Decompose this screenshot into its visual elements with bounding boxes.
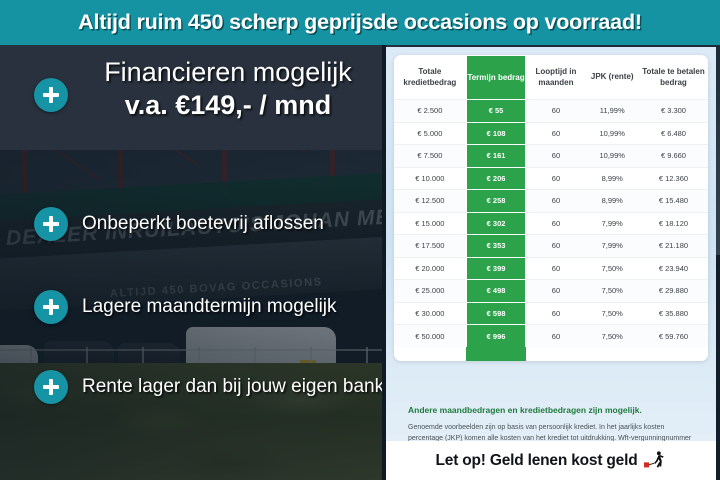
top-banner-bar: Altijd ruim 450 scherp geprijsde occasio… [0, 0, 720, 45]
headline-line-2: v.a. €149,- / mnd [68, 89, 388, 121]
col-header-kredietbedrag: Totale kredietbedrag [394, 56, 466, 100]
table-cell: 7,50% [586, 302, 639, 325]
table-cell: € 55 [466, 100, 526, 123]
table-cell: 60 [526, 145, 586, 168]
table-cell: € 258 [466, 190, 526, 213]
table-cell: 60 [526, 190, 586, 213]
plus-icon [34, 207, 68, 241]
rates-table-body: € 2.500€ 556011,99%€ 3.300€ 5.000€ 10860… [394, 100, 708, 348]
plus-icon [34, 290, 68, 324]
headline-line-1: Financieren mogelijk [68, 57, 388, 87]
col-header-totaal-betalen: Totale te betalen bedrag [639, 56, 708, 100]
col-header-jpk: JPK (rente) [586, 56, 639, 100]
table-cell: € 598 [466, 302, 526, 325]
table-cell: € 161 [466, 145, 526, 168]
table-cell: 7,50% [586, 257, 639, 280]
credit-warning-bar: Let op! Geld lenen kost geld [386, 441, 716, 480]
table-cell: € 15.480 [639, 190, 708, 213]
benefit-item-lagere-maandtermijn: Lagere maandtermijn mogelijk [34, 290, 337, 324]
table-cell: € 20.000 [394, 257, 466, 280]
table-cell: € 498 [466, 280, 526, 303]
table-cell: € 399 [466, 257, 526, 280]
table-cell: € 206 [466, 167, 526, 190]
benefit-label: Lagere maandtermijn mogelijk [82, 296, 337, 318]
disclaimer-title: Andere maandbedragen en kredietbedragen … [408, 405, 698, 415]
benefit-label: Onbeperkt boetevrij aflossen [82, 213, 324, 235]
table-cell: 8,99% [586, 190, 639, 213]
table-cell: 10,99% [586, 145, 639, 168]
table-cell: € 35.880 [639, 302, 708, 325]
credit-warning-text: Let op! Geld lenen kost geld [436, 452, 638, 470]
table-row: € 10.000€ 206608,99%€ 12.360 [394, 167, 708, 190]
rates-table: Totale kredietbedrag Termijn bedrag Loop… [394, 55, 708, 347]
col-header-looptijd: Looptijd in maanden [526, 56, 586, 100]
table-cell: 7,99% [586, 235, 639, 258]
table-cell: 10,99% [586, 122, 639, 145]
table-cell: € 5.000 [394, 122, 466, 145]
table-cell: 60 [526, 280, 586, 303]
table-cell: € 12.360 [639, 167, 708, 190]
table-row: € 30.000€ 598607,50%€ 35.880 [394, 302, 708, 325]
table-cell: € 108 [466, 122, 526, 145]
table-cell: € 7.500 [394, 145, 466, 168]
table-cell: € 59.760 [639, 325, 708, 348]
page-title: Financieren mogelijk v.a. €149,- / mnd [68, 57, 388, 122]
finance-info-panel: Totale kredietbedrag Termijn bedrag Loop… [386, 47, 716, 477]
table-cell: 60 [526, 122, 586, 145]
table-cell: 60 [526, 100, 586, 123]
table-cell: 7,50% [586, 280, 639, 303]
table-cell: 60 [526, 302, 586, 325]
table-row: € 20.000€ 399607,50%€ 23.940 [394, 257, 708, 280]
table-cell: € 9.660 [639, 145, 708, 168]
table-cell: € 996 [466, 325, 526, 348]
table-cell: € 18.120 [639, 212, 708, 235]
table-cell: 60 [526, 167, 586, 190]
table-cell: 60 [526, 325, 586, 348]
benefit-item-lagere-rente: Rente lager dan bij jouw eigen bank [34, 370, 384, 404]
table-cell: 11,99% [586, 100, 639, 123]
table-cell: € 29.880 [639, 280, 708, 303]
table-cell: € 12.500 [394, 190, 466, 213]
table-cell: € 15.000 [394, 212, 466, 235]
table-cell: 60 [526, 212, 586, 235]
table-cell: € 23.940 [639, 257, 708, 280]
benefit-label: Rente lager dan bij jouw eigen bank [82, 376, 384, 398]
plus-icon [34, 78, 68, 112]
table-row: € 15.000€ 302607,99%€ 18.120 [394, 212, 708, 235]
table-cell: € 17.500 [394, 235, 466, 258]
table-cell: € 50.000 [394, 325, 466, 348]
highlight-column-tail [466, 347, 526, 361]
table-cell: 7,50% [586, 325, 639, 348]
table-cell: € 25.000 [394, 280, 466, 303]
table-cell: 7,99% [586, 212, 639, 235]
table-cell: 60 [526, 257, 586, 280]
table-row: € 7.500€ 1616010,99%€ 9.660 [394, 145, 708, 168]
top-banner-text: Altijd ruim 450 scherp geprijsde occasio… [78, 10, 642, 35]
afm-walking-man-icon [644, 450, 666, 472]
finance-promo-banner: Altijd ruim 450 scherp geprijsde occasio… [0, 0, 720, 480]
table-cell: 60 [526, 235, 586, 258]
table-cell: € 353 [466, 235, 526, 258]
col-header-termijnbedrag: Termijn bedrag [466, 56, 526, 100]
table-cell: € 6.480 [639, 122, 708, 145]
table-row: € 17.500€ 353607,99%€ 21.180 [394, 235, 708, 258]
table-cell: € 3.300 [639, 100, 708, 123]
table-cell: 8,99% [586, 167, 639, 190]
table-cell: € 302 [466, 212, 526, 235]
table-row: € 12.500€ 258608,99%€ 15.480 [394, 190, 708, 213]
rates-table-card: Totale kredietbedrag Termijn bedrag Loop… [394, 55, 708, 361]
table-row: € 50.000€ 996607,50%€ 59.760 [394, 325, 708, 348]
table-cell: € 30.000 [394, 302, 466, 325]
table-header-row: Totale kredietbedrag Termijn bedrag Loop… [394, 56, 708, 100]
plus-icon [34, 370, 68, 404]
table-cell: € 2.500 [394, 100, 466, 123]
table-cell: € 10.000 [394, 167, 466, 190]
table-cell: € 21.180 [639, 235, 708, 258]
table-row: € 5.000€ 1086010,99%€ 6.480 [394, 122, 708, 145]
benefit-item-financieren [34, 78, 68, 112]
table-row: € 2.500€ 556011,99%€ 3.300 [394, 100, 708, 123]
table-row: € 25.000€ 498607,50%€ 29.880 [394, 280, 708, 303]
benefit-item-boetevrij-aflossen: Onbeperkt boetevrij aflossen [34, 207, 324, 241]
